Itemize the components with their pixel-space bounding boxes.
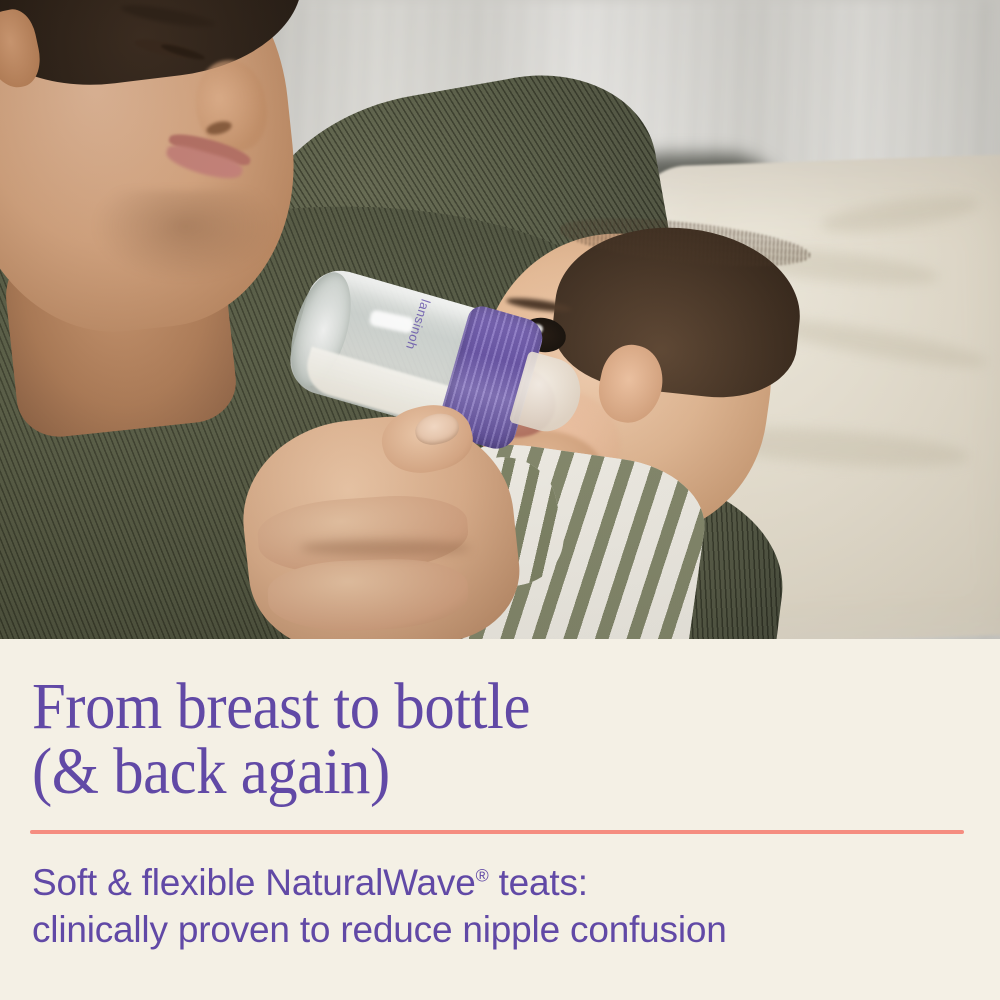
registered-trademark-icon: ® <box>476 866 489 886</box>
divider <box>30 830 964 834</box>
hand-shadow <box>300 540 470 556</box>
advertisement-card: lansinoh From breast to bottle (& back a… <box>0 0 1000 1000</box>
subtitle-line-2: clinically proven to reduce nipple confu… <box>32 909 727 950</box>
page-title: From breast to bottle (& back again) <box>32 675 893 804</box>
subtitle-line-1-suffix: teats: <box>488 862 587 903</box>
subtitle: Soft & flexible NaturalWave® teats:clini… <box>32 860 968 953</box>
hero-photo: lansinoh <box>0 0 1000 639</box>
man-chin-shadow <box>95 190 275 280</box>
text-panel: From breast to bottle (& back again) Sof… <box>0 639 1000 1000</box>
subtitle-line-1-prefix: Soft & flexible NaturalWave <box>32 862 476 903</box>
